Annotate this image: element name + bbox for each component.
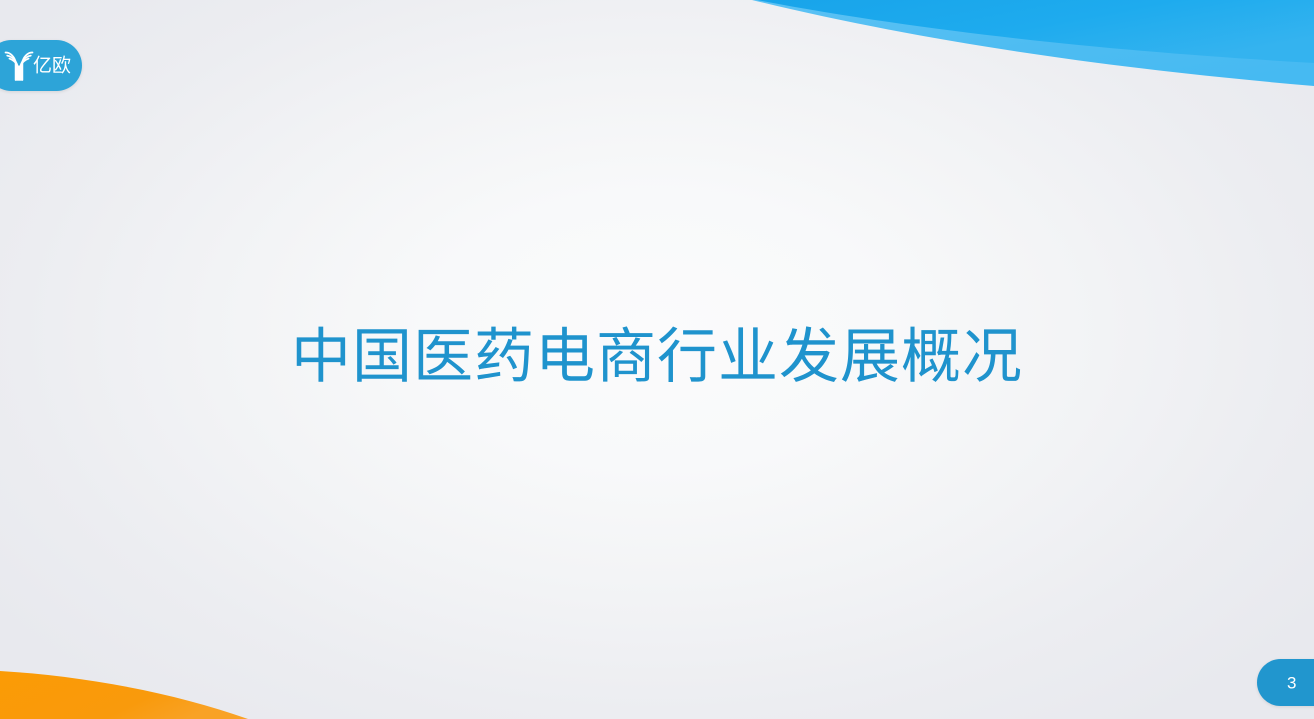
title-container: 中国医药电商行业发展概况 — [0, 0, 1314, 719]
page-number-text: 3 — [1287, 674, 1296, 691]
slide-canvas: 亿欧 中国医药电商行业发展概况 3 — [0, 0, 1314, 719]
page-number-badge: 3 — [1257, 659, 1314, 706]
page-title: 中国医药电商行业发展概况 — [291, 324, 1023, 390]
